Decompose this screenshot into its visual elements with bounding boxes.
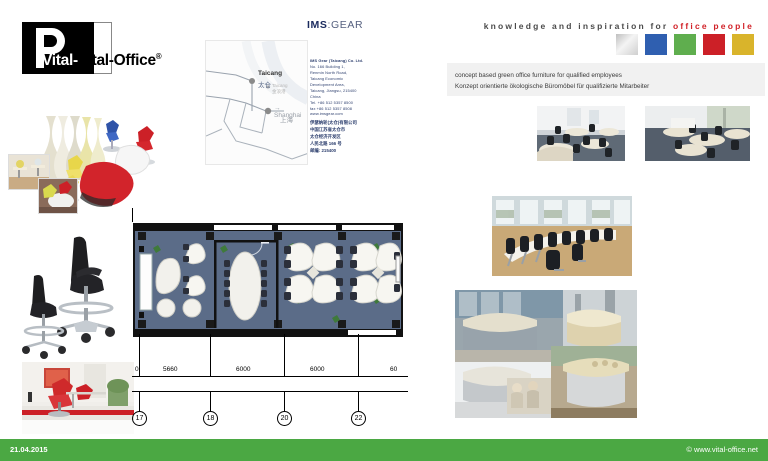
map-label-taicang-en: Taicang <box>258 70 282 77</box>
open-office-2-graphic <box>645 106 750 161</box>
address-line-cn: 伊瑟纳轮(太仓)有限公司 <box>310 119 384 126</box>
photo-reception-desks <box>455 290 637 418</box>
dimension-line-lower <box>132 391 408 392</box>
map-label-shanghai-cn: 上海 <box>280 114 293 124</box>
map-roads-graphic <box>206 41 308 165</box>
concept-line-english: concept based green office furniture for… <box>455 70 757 81</box>
tagline: knowledge and inspiration for office peo… <box>484 21 754 31</box>
floor-plan: 0 5660 6000 6000 60 17 18 20 22 <box>128 208 408 428</box>
grid-drop-22 <box>358 391 359 411</box>
concept-caption-box: concept based green office furniture for… <box>447 63 765 96</box>
grid-tick-22 <box>358 334 359 376</box>
thumbnail-desk-graphic <box>39 179 78 214</box>
map-label-taicang-cn: 太仓 <box>258 79 271 89</box>
logo-wordmark: Vital-Vital-Office® <box>42 52 161 70</box>
tagline-accent: office people <box>673 21 754 31</box>
swatch-blue <box>645 34 667 55</box>
dimension-line-upper <box>132 376 408 377</box>
logo-wordmark-office: Vital-Office <box>78 52 156 69</box>
photo-red-workstation <box>22 362 134 434</box>
concept-line-german: Konzept orientierte ökologische Büromöbe… <box>455 81 757 92</box>
photo-open-office-1 <box>537 106 625 161</box>
address-line-website: www.imsgear.com <box>310 111 384 117</box>
grid-bubble-20: 20 <box>277 411 292 426</box>
address-block-chinese: 伊瑟纳轮(太仓)有限公司 中国江苏省太仓市 太仓经济开发区 人民北路 166 号… <box>310 119 384 154</box>
ims-gear-logo: IMS:GEAR <box>307 19 363 31</box>
reception-desks-graphic <box>455 290 637 418</box>
tagline-plain: knowledge and inspiration for <box>484 21 669 31</box>
map-label-minor-cn: 金浪港 <box>272 89 286 95</box>
grid-tick-17 <box>139 334 140 376</box>
swatch-silver <box>616 34 638 55</box>
office-chairs-graphic <box>18 228 136 360</box>
address-line-cn: 太仓经济开发区 <box>310 133 384 140</box>
footer-copyright: © www.vital-office.net <box>686 445 758 454</box>
open-office-1-graphic <box>537 106 625 161</box>
red-workstation-graphic <box>22 362 134 434</box>
dimension-value: 6000 <box>236 366 250 373</box>
logo-wordmark-vital: Vital- <box>42 52 78 69</box>
grid-tick-20 <box>284 334 285 376</box>
conference-room-graphic <box>492 196 632 276</box>
dimension-value: 60 <box>390 366 397 373</box>
ims-logo-gear: GEAR <box>331 19 363 31</box>
grid-bubble-17: 17 <box>132 411 147 426</box>
photo-office-chairs <box>18 228 136 360</box>
footer-date: 21.04.2015 <box>10 445 48 454</box>
photo-open-office-2 <box>645 106 750 161</box>
dimension-value: 6000 <box>310 366 324 373</box>
color-swatch-row <box>616 34 754 55</box>
grid-drop-18 <box>210 391 211 411</box>
grid-drop-17 <box>139 391 140 411</box>
swatch-red <box>703 34 725 55</box>
floor-plan-drawing <box>128 216 408 356</box>
map-label-minor-en: Taicang <box>272 83 288 88</box>
dimension-value: 5660 <box>163 366 177 373</box>
swatch-gold <box>732 34 754 55</box>
address-block-latin: IMS Gear (Taicang) Co. Ltd. No. 166 Buil… <box>310 58 384 117</box>
presentation-page: Vital-Vital-Office® IMS:GEAR knowledge a… <box>0 0 768 461</box>
grid-tick-18 <box>210 334 211 376</box>
grid-bubble-18: 18 <box>203 411 218 426</box>
registered-mark: ® <box>156 52 162 61</box>
address-line-cn: 邮编: 215400 <box>310 147 384 154</box>
address-line-cn: 人民北路 166 号 <box>310 140 384 147</box>
swatch-green <box>674 34 696 55</box>
dimension-zero: 0 <box>135 366 139 373</box>
ims-logo-ims: IMS <box>307 19 327 31</box>
photo-colorful-desks <box>8 104 176 216</box>
vital-office-logo: Vital-Vital-Office® <box>22 22 112 74</box>
grid-drop-20 <box>284 391 285 411</box>
location-map: Taicang 太仓 Taicang 金浪港 → Shanghai 上海 <box>205 40 308 165</box>
photo-conference-room <box>492 196 632 276</box>
address-line-cn: 中国江苏省太仓市 <box>310 126 384 133</box>
grid-bubble-22: 22 <box>351 411 366 426</box>
thumbnail-desk-detail <box>38 178 78 214</box>
page-footer: 21.04.2015 © www.vital-office.net <box>0 439 768 461</box>
